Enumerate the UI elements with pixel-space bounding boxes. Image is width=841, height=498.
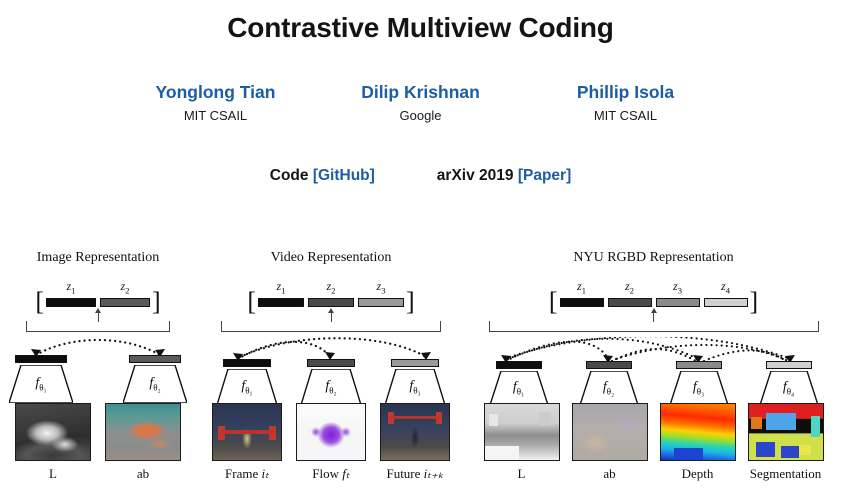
- figure-title: Image Representation: [0, 250, 196, 272]
- author-name[interactable]: Phillip Isola: [523, 82, 728, 104]
- encoder-trapezoid: fθ₁: [9, 365, 73, 403]
- view-thumbnail: [572, 403, 648, 461]
- encoder: fθ₃: [385, 359, 445, 405]
- latent-code-cell: z1: [560, 280, 604, 307]
- view-thumbnail: [660, 403, 736, 461]
- latent-code-row: [ z1 z2 z3 ]: [196, 280, 466, 307]
- view-item: Future iₜ₊ₖ: [380, 403, 450, 482]
- latent-code-label: z1: [258, 280, 304, 297]
- view-item: Flow fₜ: [296, 403, 366, 482]
- latent-code-cell: z2: [100, 280, 150, 307]
- encoder-trapezoid: fθ₄: [760, 371, 818, 405]
- code-link-prefix: Code: [270, 167, 309, 184]
- figure-title: Video Representation: [196, 250, 466, 272]
- encoder: fθ₁: [9, 355, 73, 403]
- figure-title: NYU RGBD Representation: [466, 250, 841, 272]
- encoder-output-bar: [496, 361, 542, 369]
- view-item: ab: [105, 403, 181, 482]
- brace-line: [26, 321, 170, 332]
- author-list: Yonglong Tian MIT CSAIL Dilip Krishnan G…: [0, 82, 841, 123]
- view-thumbnail: [748, 403, 824, 461]
- view-caption: Depth: [660, 466, 736, 482]
- latent-code-bar: [308, 298, 354, 307]
- latent-code-label: z4: [704, 280, 748, 297]
- encoder-area: fθ₁ fθ₂: [0, 337, 196, 403]
- view-item: Depth: [660, 403, 736, 482]
- latent-code-bar: [258, 298, 304, 307]
- encoder-trapezoid: fθ₃: [385, 369, 445, 405]
- latent-code-cell: z4: [704, 280, 748, 307]
- brace-line: [489, 321, 819, 332]
- view-thumbnail: [212, 403, 282, 461]
- view-caption: ab: [572, 466, 648, 482]
- encoder-trapezoid: fθ₃: [670, 371, 728, 405]
- page-title: Contrastive Multiview Coding: [0, 12, 841, 44]
- latent-code-label: z1: [46, 280, 96, 297]
- encoder-trapezoid: fθ₂: [301, 369, 361, 405]
- latent-code-cell: z3: [656, 280, 700, 307]
- view-item: Frame iₜ: [212, 403, 282, 482]
- figure-row: Image Representation [ z1 z2 ]: [0, 250, 841, 498]
- author-affiliation: Google: [318, 108, 523, 123]
- encoder: fθ₂: [580, 361, 638, 405]
- concat-brace: [0, 307, 196, 337]
- encoder-output-bar: [129, 355, 181, 363]
- author-entry: Yonglong Tian MIT CSAIL: [113, 82, 318, 123]
- encoder-area: fθ₁ fθ₂ fθ₃: [466, 337, 841, 403]
- bracket-open: [: [549, 297, 558, 307]
- bracket-close: ]: [750, 297, 759, 307]
- view-thumbnail: [105, 403, 181, 461]
- latent-code-cell: z3: [358, 280, 404, 307]
- github-link[interactable]: [GitHub]: [313, 167, 375, 184]
- latent-code-label: z2: [308, 280, 354, 297]
- bracket-open: [: [35, 297, 44, 307]
- view-caption: ab: [105, 466, 181, 482]
- latent-code-label: z1: [560, 280, 604, 297]
- latent-code-bar: [704, 298, 748, 307]
- figure-video-representation: Video Representation [ z1 z2 z3 ]: [196, 250, 466, 498]
- encoder: fθ₂: [123, 355, 187, 403]
- view-caption: L: [484, 466, 560, 482]
- author-entry: Dilip Krishnan Google: [318, 82, 523, 123]
- author-affiliation: MIT CSAIL: [523, 108, 728, 123]
- latent-code-cell: z2: [308, 280, 354, 307]
- encoder-trapezoid: fθ₁: [217, 369, 277, 405]
- concat-brace: [196, 307, 466, 337]
- code-link-group: Code [GitHub]: [270, 167, 375, 185]
- latent-code-cell: z2: [608, 280, 652, 307]
- encoder-output-bar: [766, 361, 812, 369]
- encoder-trapezoid: fθ₂: [123, 365, 187, 403]
- author-entry: Phillip Isola MIT CSAIL: [523, 82, 728, 123]
- latent-code-label: z2: [608, 280, 652, 297]
- encoder-output-bar: [307, 359, 355, 367]
- encoder-row: fθ₁ fθ₂ fθ₃: [196, 337, 466, 405]
- latent-code-bar: [100, 298, 150, 307]
- latent-code-label: z3: [358, 280, 404, 297]
- view-caption: Flow fₜ: [296, 466, 366, 482]
- view-item: Segmentation: [748, 403, 824, 482]
- paper-link-prefix: arXiv 2019: [437, 167, 514, 184]
- latent-code-cell: z1: [258, 280, 304, 307]
- latent-code-bar: [46, 298, 96, 307]
- latent-code-cell: z1: [46, 280, 96, 307]
- view-thumbnail: [484, 403, 560, 461]
- view-row: L ab: [0, 403, 196, 482]
- encoder-row: fθ₁ fθ₂: [0, 337, 196, 403]
- encoder: fθ₄: [760, 361, 818, 405]
- view-item: L: [484, 403, 560, 482]
- view-caption: Future iₜ₊ₖ: [380, 466, 450, 482]
- latent-code-bar: [608, 298, 652, 307]
- latent-code-bar: [358, 298, 404, 307]
- latent-code-row: [ z1 z2 z3 z4 ]: [466, 280, 841, 307]
- encoder: fθ₃: [670, 361, 728, 405]
- encoder-area: fθ₁ fθ₂ fθ₃: [196, 337, 466, 403]
- encoder-output-bar: [15, 355, 67, 363]
- figure-image-representation: Image Representation [ z1 z2 ]: [0, 250, 196, 498]
- view-caption: Segmentation: [748, 466, 824, 482]
- encoder-row: fθ₁ fθ₂ fθ₃: [466, 337, 841, 405]
- encoder-trapezoid: fθ₁: [490, 371, 548, 405]
- encoder-trapezoid: fθ₂: [580, 371, 638, 405]
- paper-link[interactable]: [Paper]: [518, 167, 571, 184]
- author-name[interactable]: Dilip Krishnan: [318, 82, 523, 104]
- view-caption: L: [15, 466, 91, 482]
- view-caption: Frame iₜ: [212, 466, 282, 482]
- encoder: fθ₁: [490, 361, 548, 405]
- view-row: L ab Depth Segmentation: [466, 403, 841, 482]
- figure-nyu-rgbd-representation: NYU RGBD Representation [ z1 z2 z3 z4 ]: [466, 250, 841, 498]
- encoder-output-bar: [676, 361, 722, 369]
- encoder: fθ₁: [217, 359, 277, 405]
- view-thumbnail: [296, 403, 366, 461]
- view-thumbnail: [380, 403, 450, 461]
- latent-code-bar: [656, 298, 700, 307]
- latent-code-label: z3: [656, 280, 700, 297]
- encoder-output-bar: [223, 359, 271, 367]
- view-item: L: [15, 403, 91, 482]
- latent-code-bar: [560, 298, 604, 307]
- concat-brace: [466, 307, 841, 337]
- author-affiliation: MIT CSAIL: [113, 108, 318, 123]
- latent-code-row: [ z1 z2 ]: [0, 280, 196, 307]
- encoder: fθ₂: [301, 359, 361, 405]
- bracket-close: ]: [152, 297, 161, 307]
- brace-line: [221, 321, 441, 332]
- view-thumbnail: [15, 403, 91, 461]
- author-name[interactable]: Yonglong Tian: [113, 82, 318, 104]
- latent-code-label: z2: [100, 280, 150, 297]
- bracket-close: ]: [406, 297, 415, 307]
- view-item: ab: [572, 403, 648, 482]
- resource-links: Code [GitHub] arXiv 2019 [Paper]: [0, 167, 841, 185]
- view-row: Frame iₜ Flow fₜ Future iₜ₊ₖ: [196, 403, 466, 482]
- encoder-output-bar: [586, 361, 632, 369]
- encoder-output-bar: [391, 359, 439, 367]
- bracket-open: [: [247, 297, 256, 307]
- paper-link-group: arXiv 2019 [Paper]: [437, 167, 571, 185]
